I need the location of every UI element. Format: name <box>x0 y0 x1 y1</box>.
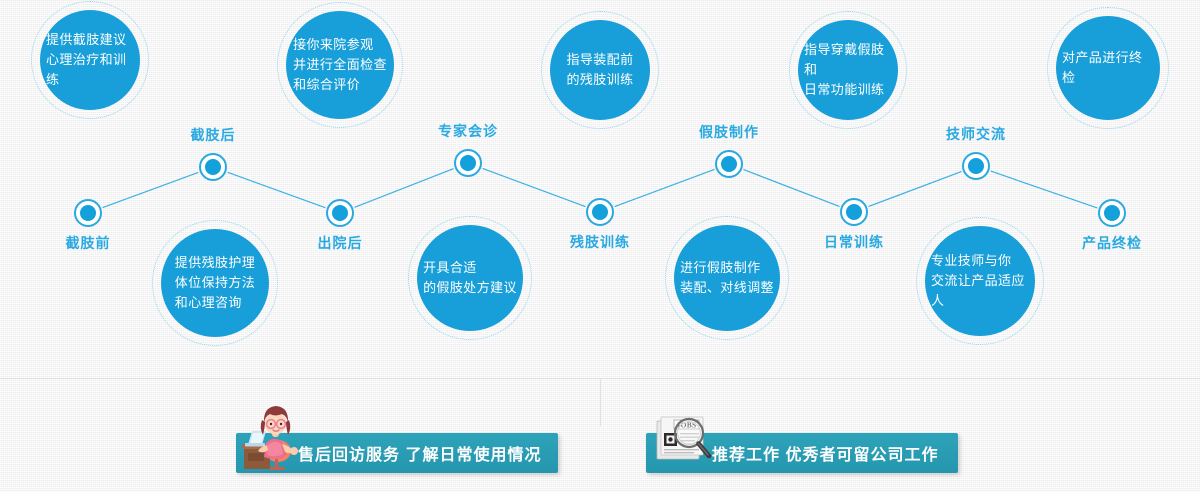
timeline-node-6[interactable] <box>840 198 868 226</box>
bubble-text: 接你来院参观 并进行全面检查 和综合评价 <box>287 35 393 95</box>
bubble-top-1[interactable]: 接你来院参观 并进行全面检查 和综合评价 <box>286 11 394 119</box>
timeline-node-label-3: 专家会诊 <box>438 121 498 141</box>
woman-at-desk-icon <box>242 401 304 473</box>
bubble-text: 指导穿戴假肢和 日常功能训练 <box>798 40 898 100</box>
bubble-top-4[interactable]: 对产品进行终检 <box>1056 16 1160 120</box>
bubble-top-2[interactable]: 指导装配前 的残肢训练 <box>550 20 650 120</box>
timeline-node-label-8: 产品终检 <box>1082 233 1142 253</box>
timeline-node-0[interactable] <box>74 199 102 227</box>
timeline-node-5[interactable] <box>715 150 743 178</box>
timeline-node-label-5: 假肢制作 <box>699 122 759 142</box>
bubble-top-0[interactable]: 提供截肢建议 心理治疗和训练 <box>40 10 140 110</box>
timeline-node-1[interactable] <box>199 153 227 181</box>
timeline-node-label-2: 出院后 <box>318 233 363 253</box>
bubble-text: 进行假肢制作 装配、对线调整 <box>674 258 780 298</box>
bubble-text: 对产品进行终检 <box>1056 48 1160 88</box>
banner-after-sales-label: 售后回访服务 了解日常使用情况 <box>298 441 541 465</box>
infographic-canvas: 提供截肢建议 心理治疗和训练接你来院参观 并进行全面检查 和综合评价指导装配前 … <box>0 0 1200 492</box>
timeline-node-3[interactable] <box>454 149 482 177</box>
bubble-text: 开具合适 的假肢处方建议 <box>417 258 523 298</box>
timeline-node-label-1: 截肢后 <box>191 125 236 145</box>
bubble-bottom-6[interactable]: 开具合适 的假肢处方建议 <box>417 225 523 331</box>
banner-after-sales[interactable]: 售后回访服务 了解日常使用情况 <box>236 433 558 473</box>
timeline-node-4[interactable] <box>586 198 614 226</box>
timeline-node-2[interactable] <box>326 199 354 227</box>
bubble-top-3[interactable]: 指导穿戴假肢和 日常功能训练 <box>798 20 898 120</box>
timeline-node-label-4: 残肢训练 <box>570 232 630 252</box>
vertical-divider <box>600 378 601 426</box>
bubble-bottom-7[interactable]: 进行假肢制作 装配、对线调整 <box>674 225 780 331</box>
bubble-text: 指导装配前 的残肢训练 <box>560 50 639 90</box>
jobs-magnifier-icon: JOBS <box>654 411 716 471</box>
banner-job-referral[interactable]: JOBS 推荐工作 <box>646 433 958 473</box>
banner-job-referral-label: 推荐工作 优秀者可留公司工作 <box>712 441 938 465</box>
bubble-text: 提供残肢护理 体位保持方法 和心理咨询 <box>169 253 261 313</box>
bubble-text: 提供截肢建议 心理治疗和训练 <box>40 30 140 90</box>
timeline-node-label-6: 日常训练 <box>824 232 884 252</box>
timeline-node-7[interactable] <box>962 152 990 180</box>
timeline-node-label-7: 技师交流 <box>946 124 1006 144</box>
bubble-bottom-5[interactable]: 提供残肢护理 体位保持方法 和心理咨询 <box>161 229 269 337</box>
timeline-node-label-0: 截肢前 <box>66 233 111 253</box>
bubble-bottom-8[interactable]: 专业技师与你 交流让产品适应人 <box>925 226 1035 336</box>
bubble-text: 专业技师与你 交流让产品适应人 <box>925 251 1035 311</box>
timeline-node-8[interactable] <box>1098 199 1126 227</box>
